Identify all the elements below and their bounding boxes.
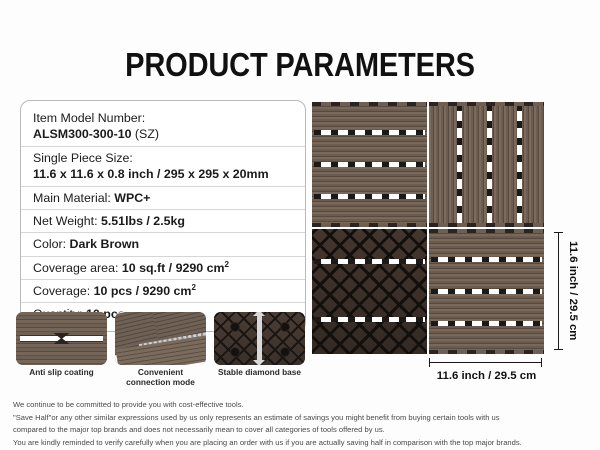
spec-value: 10 sq.ft / 9290 cm2 — [122, 261, 229, 275]
dimension-cap-bottom — [554, 349, 563, 350]
feature-diamond-base: Stable diamond base — [214, 312, 305, 387]
width-dimension-label: 11.6 inch / 29.5 cm — [414, 370, 559, 382]
spec-row-coverage-area: Coverage area: 10 sq.ft / 9290 cm2 — [21, 257, 305, 280]
vertical-arrow-icon — [257, 315, 262, 361]
spec-value: 11.6 x 11.6 x 0.8 inch / 295 x 295 x 20m… — [33, 166, 295, 182]
dimension-cap-right — [541, 358, 542, 367]
spec-row-single-piece-size: Single Piece Size: 11.6 x 11.6 x 0.8 inc… — [21, 147, 305, 187]
specification-table: Item Model Number: ALSM300-300-10 (SZ) S… — [20, 100, 306, 332]
disclaimer-line: You are kindly reminded to verify carefu… — [13, 437, 591, 450]
disclaimer-line: compared to the major top brands and doe… — [13, 424, 591, 437]
tile-seam — [314, 130, 425, 135]
disclaimer-text: We continue to be committed to provide y… — [13, 399, 591, 449]
disclaimer-line: We continue to be committed to provide y… — [13, 399, 591, 412]
deck-tile-bottom-left — [312, 229, 427, 354]
tile-edge — [429, 229, 544, 233]
tile-seam — [517, 104, 522, 225]
dimension-rule — [558, 232, 559, 350]
spec-value-text: ALSM300-300-10 — [33, 127, 131, 141]
tile-seam — [314, 162, 425, 167]
spec-label: Net Weight: — [33, 214, 101, 228]
spec-row-net-weight: Net Weight: 5.51lbs / 2.5kg — [21, 210, 305, 233]
tile-edge — [429, 223, 544, 227]
tile-edge — [429, 350, 544, 354]
product-parameters-page: PRODUCT PARAMETERS Item Model Number: AL… — [0, 0, 600, 450]
feature-caption-line2: connection mode — [126, 377, 195, 387]
feature-thumbnail-list: Anti slip coating Convenientconnection m… — [16, 312, 306, 387]
feature-anti-slip-coating: Anti slip coating — [16, 312, 107, 387]
spec-label: Coverage area: — [33, 261, 122, 275]
product-photo — [312, 102, 544, 354]
feature-caption: Convenientconnection mode — [115, 367, 206, 387]
feature-caption: Stable diamond base — [214, 367, 305, 377]
interlock-scene — [115, 312, 206, 365]
diamond-base-underside-texture — [312, 229, 427, 354]
feature-connection-mode: Convenientconnection mode — [115, 312, 206, 387]
spec-value: 10 pcs / 9290 cm2 — [94, 284, 196, 298]
spec-value-superscript: 2 — [224, 260, 228, 269]
spec-value-text: 10 pcs / 9290 cm — [94, 284, 192, 298]
dimension-rule — [429, 362, 542, 363]
deck-tile-bottom-right — [429, 229, 544, 354]
spec-value-suffix: (SZ) — [131, 127, 159, 141]
height-dimension-line — [554, 232, 563, 350]
spec-row-main-material: Main Material: WPC+ — [21, 187, 305, 210]
diamond-node — [230, 347, 240, 357]
diamond-panel — [214, 312, 305, 365]
diamond-node — [230, 322, 240, 332]
slat-surface-icon — [16, 312, 107, 365]
feature-caption: Anti slip coating — [16, 367, 107, 377]
spec-value: ALSM300-300-10 (SZ) — [33, 126, 295, 142]
tile-seam — [431, 321, 542, 326]
spec-row-color: Color: Dark Brown — [21, 233, 305, 256]
spec-label: Item Model Number: — [33, 110, 295, 126]
deck-tile-top-left — [312, 102, 427, 227]
tile-seam — [314, 194, 425, 199]
spec-value: 5.51lbs / 2.5kg — [101, 214, 185, 228]
tile-seam — [314, 317, 425, 322]
tile-seam — [431, 289, 542, 294]
disclaimer-line: "Save Half"or any other similar expressi… — [13, 412, 591, 425]
spec-row-coverage: Coverage: 10 pcs / 9290 cm2 — [21, 280, 305, 303]
interlock-icon — [115, 312, 206, 365]
spec-row-model-number: Item Model Number: ALSM300-300-10 (SZ) — [21, 107, 305, 147]
height-dimension-label: 11.6 inch / 29.5 cm — [566, 232, 580, 350]
tile-seam — [487, 104, 492, 225]
spec-label: Color: — [33, 237, 70, 251]
diamond-base-icon — [214, 312, 305, 365]
deck-tile-top-right — [429, 102, 544, 227]
spec-value: WPC+ — [114, 191, 150, 205]
spec-value-text: 10 sq.ft / 9290 cm — [122, 261, 225, 275]
tile-edge — [312, 223, 427, 227]
tile-edge — [429, 102, 544, 106]
width-dimension-line — [429, 358, 542, 367]
spec-value: Dark Brown — [70, 237, 140, 251]
spec-value-superscript: 2 — [191, 283, 195, 292]
spec-label: Single Piece Size: — [33, 150, 295, 166]
spec-label: Main Material: — [33, 191, 114, 205]
tile-seam — [431, 257, 542, 262]
tile-seam — [457, 104, 462, 225]
feature-caption-line1: Convenient — [138, 367, 183, 377]
spec-label: Coverage: — [33, 284, 94, 298]
diamond-node — [280, 347, 290, 357]
page-title: PRODUCT PARAMETERS — [36, 46, 564, 84]
tile-seam — [314, 259, 425, 264]
diamond-node — [280, 322, 290, 332]
tile-edge — [312, 102, 427, 106]
